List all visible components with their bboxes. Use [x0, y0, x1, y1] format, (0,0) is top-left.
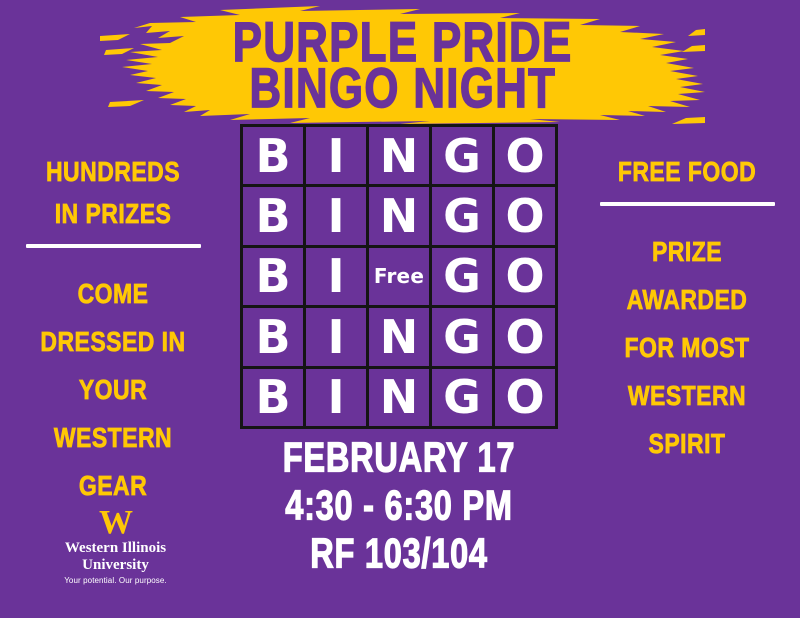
right-info-column: FREE FOOD PRIZE AWARDED FOR MOST WESTERN…: [582, 160, 792, 480]
bingo-cell: B: [243, 369, 303, 426]
right-line-for-most: FOR MOST: [590, 335, 783, 363]
left-line-come: COME: [16, 281, 209, 309]
bingo-card-grid: B I N G O B I N G O B I Free G O B I N G…: [240, 124, 558, 429]
event-date: FEBRUARY 17: [251, 437, 547, 479]
right-line-western: WESTERN: [590, 383, 783, 411]
left-divider: [26, 244, 201, 248]
left-line-your: YOUR: [16, 377, 209, 405]
bingo-cell: I: [306, 369, 366, 426]
event-details: FEBRUARY 17 4:30 - 6:30 PM RF 103/104: [240, 440, 558, 571]
bingo-cell: I: [306, 187, 366, 244]
bingo-cell: O: [495, 187, 555, 244]
bingo-cell: G: [432, 369, 492, 426]
wiu-w-monogram-icon: W: [38, 508, 193, 539]
left-line-in-prizes: IN PRIZES: [16, 201, 209, 229]
right-line-awarded: AWARDED: [590, 287, 783, 315]
bingo-cell: O: [495, 308, 555, 365]
bingo-cell: G: [432, 248, 492, 305]
bingo-cell: N: [369, 308, 429, 365]
bingo-cell: I: [306, 127, 366, 184]
wiu-name-line-2: University: [38, 557, 193, 573]
left-group-prizes: HUNDREDS IN PRIZES: [8, 160, 218, 227]
bingo-cell: O: [495, 127, 555, 184]
bingo-cell-free: Free: [369, 248, 429, 305]
left-group-dresscode: COME DRESSED IN YOUR WESTERN GEAR: [8, 282, 218, 499]
bingo-cell: N: [369, 369, 429, 426]
wiu-name-line-1: Western Illinois: [38, 540, 193, 556]
bingo-cell: B: [243, 127, 303, 184]
right-group-prize: PRIZE AWARDED FOR MOST WESTERN SPIRIT: [582, 240, 792, 457]
event-time: 4:30 - 6:30 PM: [251, 485, 547, 527]
bingo-cell: I: [306, 248, 366, 305]
right-divider: [600, 202, 775, 206]
right-line-free-food: FREE FOOD: [590, 159, 783, 187]
bingo-cell: G: [432, 187, 492, 244]
bingo-cell: O: [495, 248, 555, 305]
bingo-cell: N: [369, 127, 429, 184]
bingo-cell: B: [243, 187, 303, 244]
title-banner: PURPLE PRIDE BINGO NIGHT: [100, 6, 705, 124]
bingo-cell: B: [243, 248, 303, 305]
brush-stroke-shape: [100, 6, 705, 124]
right-line-prize: PRIZE: [590, 239, 783, 267]
left-line-dressed-in: DRESSED IN: [16, 329, 209, 357]
left-line-hundreds: HUNDREDS: [16, 159, 209, 187]
wiu-tagline: Your potential. Our purpose.: [38, 577, 193, 585]
bingo-cell: G: [432, 308, 492, 365]
bingo-cell: N: [369, 187, 429, 244]
left-info-column: HUNDREDS IN PRIZES COME DRESSED IN YOUR …: [8, 160, 218, 522]
left-line-western: WESTERN: [16, 425, 209, 453]
bingo-cell: I: [306, 308, 366, 365]
poster-canvas: PURPLE PRIDE BINGO NIGHT B I N G O B I N…: [0, 0, 800, 618]
bingo-cell: B: [243, 308, 303, 365]
wiu-logo: W Western Illinois University Your poten…: [38, 508, 193, 585]
right-group-food: FREE FOOD: [582, 160, 792, 185]
bingo-cell: G: [432, 127, 492, 184]
bingo-cell: O: [495, 369, 555, 426]
event-location: RF 103/104: [251, 533, 547, 575]
right-line-spirit: SPIRIT: [590, 431, 783, 459]
left-line-gear: GEAR: [16, 473, 209, 501]
